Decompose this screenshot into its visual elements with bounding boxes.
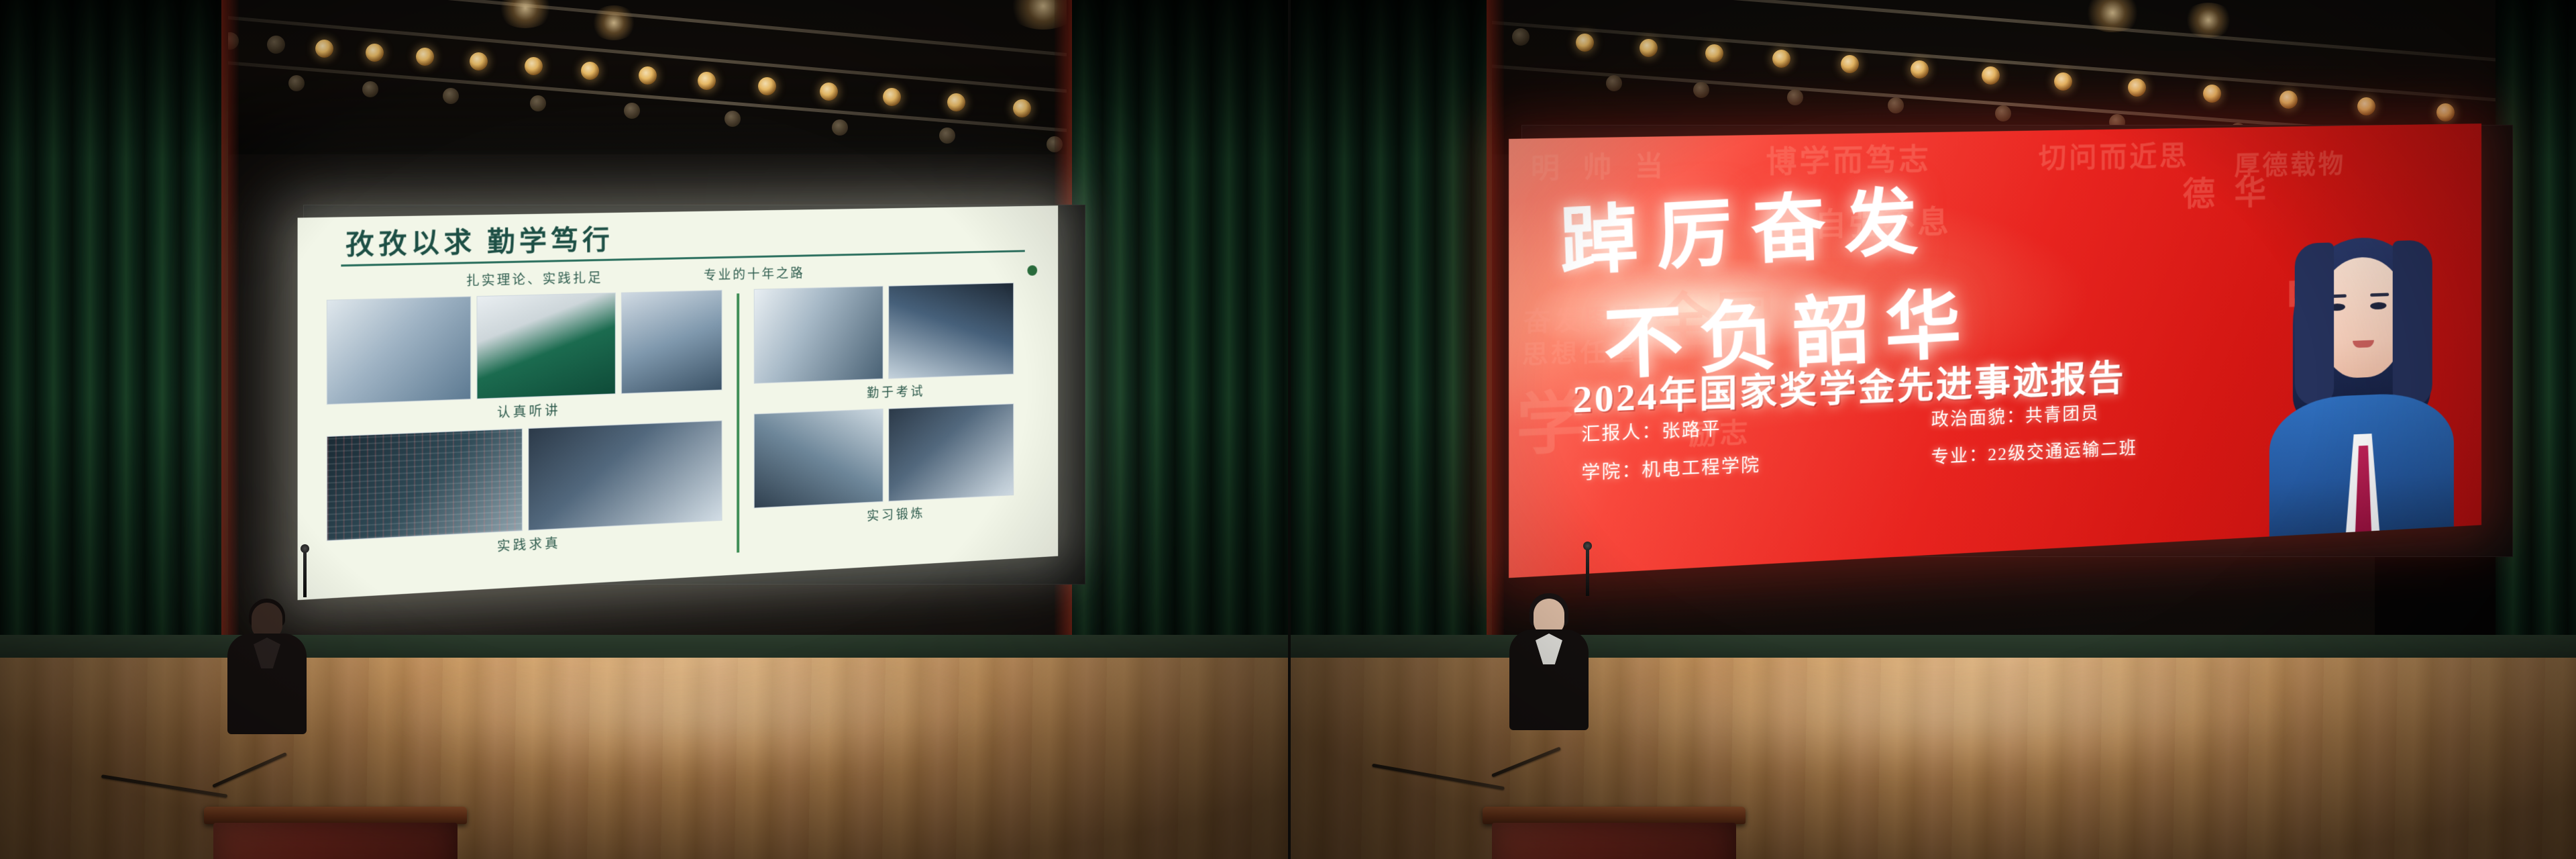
watermark-word: 华 (2235, 166, 2269, 215)
podium-front-panel: 1912 河南农业大学 (213, 823, 458, 859)
projection-screen: 孜孜以求 勤学笃行 扎实理论、实践扎足 专业的十年之路 认真听讲 (298, 205, 1059, 600)
floor-light-reflection (1574, 658, 2319, 778)
stage-lamp-icon (1772, 50, 1790, 68)
stage-lamp-icon (366, 44, 384, 62)
presentation-slide: 孜孜以求 勤学笃行 扎实理论、实践扎足 专业的十年之路 认真听讲 (298, 205, 1059, 600)
portrait-eyebrow-right (2370, 293, 2389, 297)
stage-lamp-icon (2357, 97, 2375, 115)
stage-lamp-icon (525, 57, 543, 75)
stage-lamp-icon (267, 36, 285, 54)
spotlight-glare (496, 0, 554, 28)
slide-photo (889, 403, 1014, 501)
stage-lamp-icon (362, 81, 378, 97)
slide-column-divider (737, 293, 740, 552)
slide-subtitle-1: 扎实理论、实践扎足 (466, 268, 603, 289)
portrait-hair-strand-left (2295, 242, 2334, 407)
microphone-head-icon (301, 544, 309, 553)
stage-lamp-icon (1841, 55, 1859, 73)
stage-lamp-icon (624, 103, 640, 119)
slide-photo (327, 296, 471, 405)
curtain-edge-trim (1487, 0, 1504, 725)
spotlight-glare (2183, 3, 2234, 38)
stage-lamp-icon (1995, 105, 2011, 121)
slide-photo-row (754, 403, 1034, 508)
stage-lamp-icon (758, 77, 776, 95)
stage-lamp-icon (530, 95, 546, 111)
stage-lamp-icon (1640, 39, 1658, 57)
stage-lamp-icon (1512, 28, 1529, 46)
slide-photo (754, 409, 883, 509)
dual-stage-photo-pair: 孜孜以求 勤学笃行 扎实理论、实践扎足 专业的十年之路 认真听讲 (0, 0, 2576, 859)
spotlight-glare (590, 5, 637, 40)
slide-column-right: 勤于考试 实习锻炼 (754, 282, 1034, 556)
slide-photo-row (327, 420, 722, 541)
stage-lamp-icon (2054, 72, 2072, 91)
stage-panel-left: 孜孜以求 勤学笃行 扎实理论、实践扎足 专业的十年之路 认真听讲 (0, 0, 1288, 859)
stage-lamp-icon (288, 75, 305, 91)
stage-lamp-icon (698, 72, 716, 90)
stage-panel-right: 明 帅 当 博学而笃志 切问而近思 厚德载物 自强不息 奋发图强 思想任重 全国… (1288, 0, 2576, 859)
slide-photo (621, 290, 722, 394)
stage-lamp-icon (1576, 34, 1594, 52)
floor-light-reflection (361, 658, 1030, 778)
stage-lamp-icon (2128, 79, 2146, 97)
podium-top-surface (1483, 807, 1746, 824)
stage-lamp-icon (883, 88, 901, 106)
stage-lamp-icon (947, 93, 965, 111)
slide-photo-row (327, 290, 722, 405)
led-major-class: 专业：22级交通运输二班 (1931, 434, 2137, 468)
slide-photo (529, 420, 722, 530)
portrait-hair-strand-right (2393, 240, 2432, 409)
stage-lamp-icon (2203, 85, 2221, 103)
stage-lamp-icon (939, 128, 955, 144)
stage-lamp-icon (1693, 82, 1709, 98)
slide-photo (476, 293, 616, 399)
microphone-stand (1586, 548, 1589, 596)
stage-lamp-icon (832, 119, 848, 136)
slide-photo-row (754, 282, 1034, 383)
microphone-head-icon (1583, 542, 1592, 550)
microphone-stand (303, 550, 307, 597)
slide-subtitle-2: 专业的十年之路 (704, 263, 805, 283)
slide-content-body: 认真听讲 实践求真 勤于考试 (317, 282, 1042, 580)
stage-lamp-icon (1982, 66, 2000, 85)
stage-curtain-left (1291, 0, 1492, 725)
stage-curtain-left (0, 0, 228, 725)
stage-lamp-icon (416, 48, 434, 66)
slide-photo (327, 428, 523, 541)
podium-top-surface (204, 807, 467, 824)
podium-front-panel: 1912 河南农业大学 (1492, 823, 1736, 859)
stage-lamp-icon (470, 52, 488, 70)
slide-photo (754, 286, 883, 384)
slide-column-left: 认真听讲 实践求真 (327, 290, 722, 580)
stage-lamp-icon (315, 40, 333, 58)
stage-lamp-icon (2279, 91, 2298, 109)
stage-lamp-icon (2436, 103, 2455, 121)
led-portrait-illustration (2258, 223, 2465, 537)
stage-lamp-icon (443, 88, 459, 104)
stage-curtain-right (1067, 0, 1288, 725)
curtain-edge-trim (221, 0, 239, 725)
stage-lamp-icon (1911, 60, 1929, 79)
stage-lamp-icon (1888, 97, 1904, 113)
stage-lamp-icon (1606, 75, 1622, 91)
watermark-word: 德 (2183, 167, 2218, 215)
led-college-name: 学院：机电工程学院 (1581, 448, 1815, 485)
stage-lamp-icon (1013, 99, 1031, 117)
stage-lamp-icon (581, 62, 599, 80)
slide-title: 孜孜以求 勤学笃行 (317, 217, 1042, 261)
stage-lamp-icon (820, 83, 838, 101)
stage-lamp-icon (1787, 89, 1803, 105)
truss-beam (1399, 13, 2576, 107)
slide-photo (889, 283, 1014, 379)
stage-lamp-icon (724, 111, 741, 127)
led-display-banner: 明 帅 当 博学而笃志 切问而近思 厚德载物 自强不息 奋发图强 思想任重 全国… (1509, 123, 2481, 578)
stage-lamp-icon (639, 66, 657, 85)
stage-lamp-icon (1705, 44, 1723, 62)
